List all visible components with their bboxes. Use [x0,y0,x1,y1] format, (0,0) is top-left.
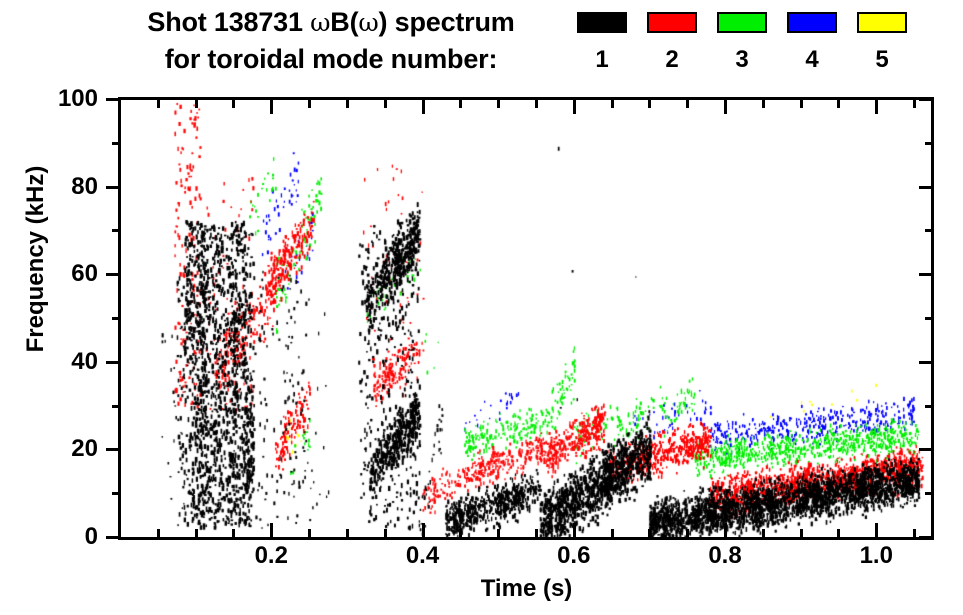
y-tick-major [106,361,121,364]
x-tick-minor [459,529,462,538]
x-tick-minor [232,529,235,538]
omega-symbol-2: ω [358,8,378,37]
x-tick-major-top [270,99,273,114]
x-tick-minor [195,529,198,538]
y-axis-label: Frequency (kHz) [22,139,50,379]
title-prefix: Shot 138731 [147,7,310,37]
x-tick-minor-top [800,99,803,108]
legend-item-2: 2 [647,12,697,73]
x-tick-minor-top [384,99,387,108]
x-tick-minor [762,529,765,538]
x-tick-major [573,523,576,538]
title-mid: B( [330,7,358,37]
spectrogram-figure: Shot 138731 ωB(ω) spectrum for toroidal … [0,0,963,615]
legend: 1 2 3 4 5 [577,12,907,73]
x-axis-label: Time (s) [120,575,933,603]
x-tick-minor [535,529,538,538]
x-tick-minor [800,529,803,538]
x-tick-label: 0.6 [534,543,614,569]
x-tick-minor [384,529,387,538]
title-line-2: for toroidal mode number: [96,41,566,78]
y-tick-major [106,186,121,189]
y-tick-major-right [919,448,934,451]
legend-label-3: 3 [717,47,767,73]
x-tick-minor-top [611,99,614,108]
y-tick-minor-right [925,492,934,495]
x-tick-minor [837,529,840,538]
legend-item-5: 5 [857,12,907,73]
x-tick-minor-top [648,99,651,108]
axis-frame-bottom [118,537,934,540]
x-tick-minor [346,529,349,538]
x-tick-minor-top [346,99,349,108]
spectrogram-canvas [120,99,933,537]
plot-area [120,99,933,537]
legend-item-3: 3 [717,12,767,73]
x-tick-minor [611,529,614,538]
legend-swatch-3 [717,12,767,33]
omega-symbol-1: ω [310,8,330,37]
y-tick-minor-right [925,405,934,408]
x-tick-minor-top [232,99,235,108]
y-tick-major-right [919,536,934,539]
y-tick-minor [112,317,121,320]
legend-label-2: 2 [647,47,697,73]
legend-item-4: 4 [787,12,837,73]
y-tick-label: 0 [18,525,98,549]
y-tick-label: 100 [18,87,98,111]
x-tick-minor-top [837,99,840,108]
legend-label-1: 1 [577,47,627,73]
y-tick-major-right [919,98,934,101]
y-tick-major-right [919,361,934,364]
x-tick-major [875,523,878,538]
title-line-1: Shot 138731 ωB(ω) spectrum [96,4,566,41]
legend-swatch-5 [857,12,907,33]
x-tick-major-top [724,99,727,114]
x-tick-minor-top [308,99,311,108]
x-tick-minor-top [762,99,765,108]
y-tick-minor-right [925,229,934,232]
y-tick-minor [112,492,121,495]
x-tick-label: 0.8 [685,543,765,569]
y-tick-major-right [919,273,934,276]
y-tick-minor [112,142,121,145]
legend-swatch-4 [787,12,837,33]
y-tick-major-right [919,186,934,189]
y-tick-minor-right [925,317,934,320]
legend-label-5: 5 [857,47,907,73]
y-tick-major [106,273,121,276]
x-tick-major-top [422,99,425,114]
y-tick-minor [112,229,121,232]
x-tick-label: 1.0 [836,543,916,569]
title-suffix: ) spectrum [379,7,515,37]
y-tick-minor [112,405,121,408]
chart-title: Shot 138731 ωB(ω) spectrum for toroidal … [96,4,566,78]
x-tick-minor-top [497,99,500,108]
y-tick-label: 20 [18,437,98,461]
legend-label-4: 4 [787,47,837,73]
x-tick-minor-top [195,99,198,108]
x-tick-minor [157,529,160,538]
y-tick-minor-right [925,142,934,145]
x-tick-minor [686,529,689,538]
x-tick-minor-top [459,99,462,108]
x-tick-label: 0.2 [231,543,311,569]
x-tick-minor [308,529,311,538]
legend-swatch-1 [577,12,627,33]
y-tick-major [106,448,121,451]
x-tick-major [270,523,273,538]
x-tick-major [724,523,727,538]
x-tick-minor-top [913,99,916,108]
legend-item-1: 1 [577,12,627,73]
x-tick-minor-top [686,99,689,108]
y-tick-major [106,98,121,101]
x-tick-label: 0.4 [383,543,463,569]
x-tick-minor [913,529,916,538]
x-tick-major-top [573,99,576,114]
x-tick-major [422,523,425,538]
axis-frame-top [118,97,934,100]
x-tick-minor [497,529,500,538]
legend-swatch-2 [647,12,697,33]
x-tick-minor [648,529,651,538]
y-tick-major [106,536,121,539]
x-tick-minor-top [535,99,538,108]
x-tick-major-top [875,99,878,114]
x-tick-minor-top [157,99,160,108]
